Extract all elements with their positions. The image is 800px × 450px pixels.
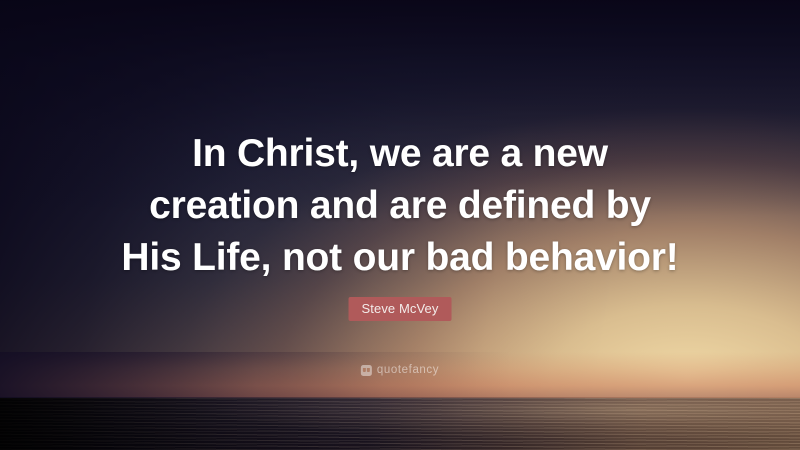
quotefancy-watermark: quotefancy [361,364,439,376]
quote-text-block: In Christ, we are a new creation and are… [0,128,800,284]
quote-line-1: In Christ, we are a new [0,128,800,180]
quote-content: In Christ, we are a new creation and are… [0,0,800,450]
author-attribution-badge: Steve McVey [349,297,452,321]
quote-mark-logo-icon [361,365,372,376]
quote-mark-glyphs [363,368,370,372]
quote-line-3: His Life, not our bad behavior! [0,232,800,284]
quote-mark-left [363,368,366,372]
quote-line-2: creation and are defined by [0,180,800,232]
quote-image-canvas: In Christ, we are a new creation and are… [0,0,800,450]
quote-mark-right [367,368,370,372]
watermark-brand-text: quotefancy [377,364,439,376]
